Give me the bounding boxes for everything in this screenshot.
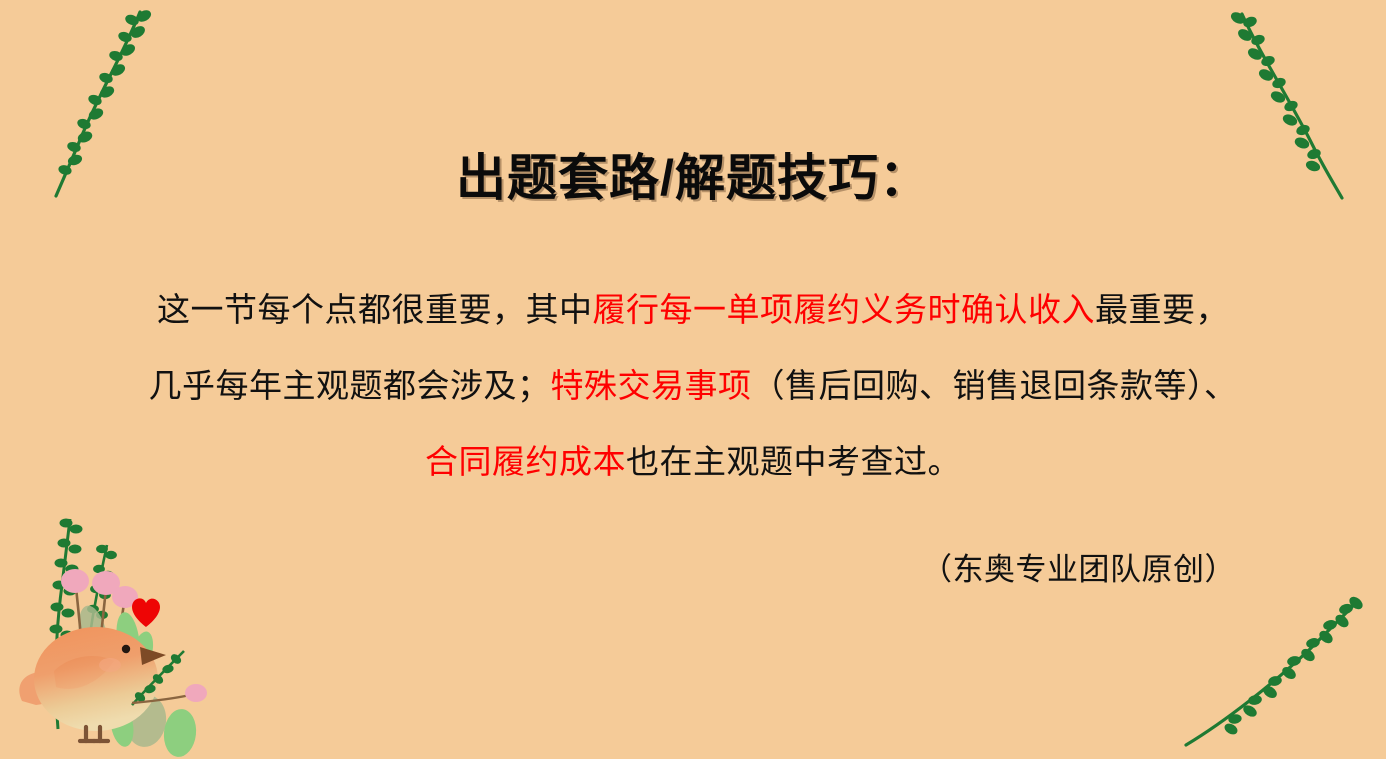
signature-text: （东奥专业团队原创） xyxy=(921,552,1236,587)
body-line-3-highlight: 合同履约成本 xyxy=(425,443,626,480)
body-line-2-highlight: 特殊交易事项 xyxy=(551,367,752,404)
page-title: 出题套路/解题技巧： xyxy=(456,138,930,210)
body-paragraph: 这一节每个点都很重要，其中履行每一单项履约义务时确认收入最重要， 几乎每年主观题… xyxy=(0,272,1386,500)
body-line-3: 合同履约成本也在主观题中考查过。 xyxy=(0,424,1386,500)
body-line-2-part1: 几乎每年主观题都会涉及； xyxy=(149,367,551,404)
body-line-1-part2: 最重要， xyxy=(1095,291,1229,328)
body-line-1-highlight: 履行每一单项履约义务时确认收入 xyxy=(593,291,1096,328)
body-line-2-part2: （售后回购、销售退回条款等）、 xyxy=(752,367,1238,404)
body-line-3-part2: 也在主观题中考查过。 xyxy=(626,443,961,480)
signature-container: （东奥专业团队原创） xyxy=(921,544,1236,589)
slide-canvas: 出题套路/解题技巧： 这一节每个点都很重要，其中履行每一单项履约义务时确认收入最… xyxy=(0,0,1386,759)
bird-with-flowers-illustration xyxy=(14,489,254,759)
bird-illustration xyxy=(19,627,166,741)
title-container: 出题套路/解题技巧： xyxy=(0,138,1386,210)
heart-icon xyxy=(132,598,160,627)
body-line-1: 这一节每个点都很重要，其中履行每一单项履约义务时确认收入最重要， xyxy=(0,272,1386,348)
body-line-2: 几乎每年主观题都会涉及；特殊交易事项（售后回购、销售退回条款等）、 xyxy=(0,348,1386,424)
leaf-sprig-bottom-right-icon xyxy=(1176,575,1376,755)
body-line-1-part1: 这一节每个点都很重要，其中 xyxy=(157,291,593,328)
